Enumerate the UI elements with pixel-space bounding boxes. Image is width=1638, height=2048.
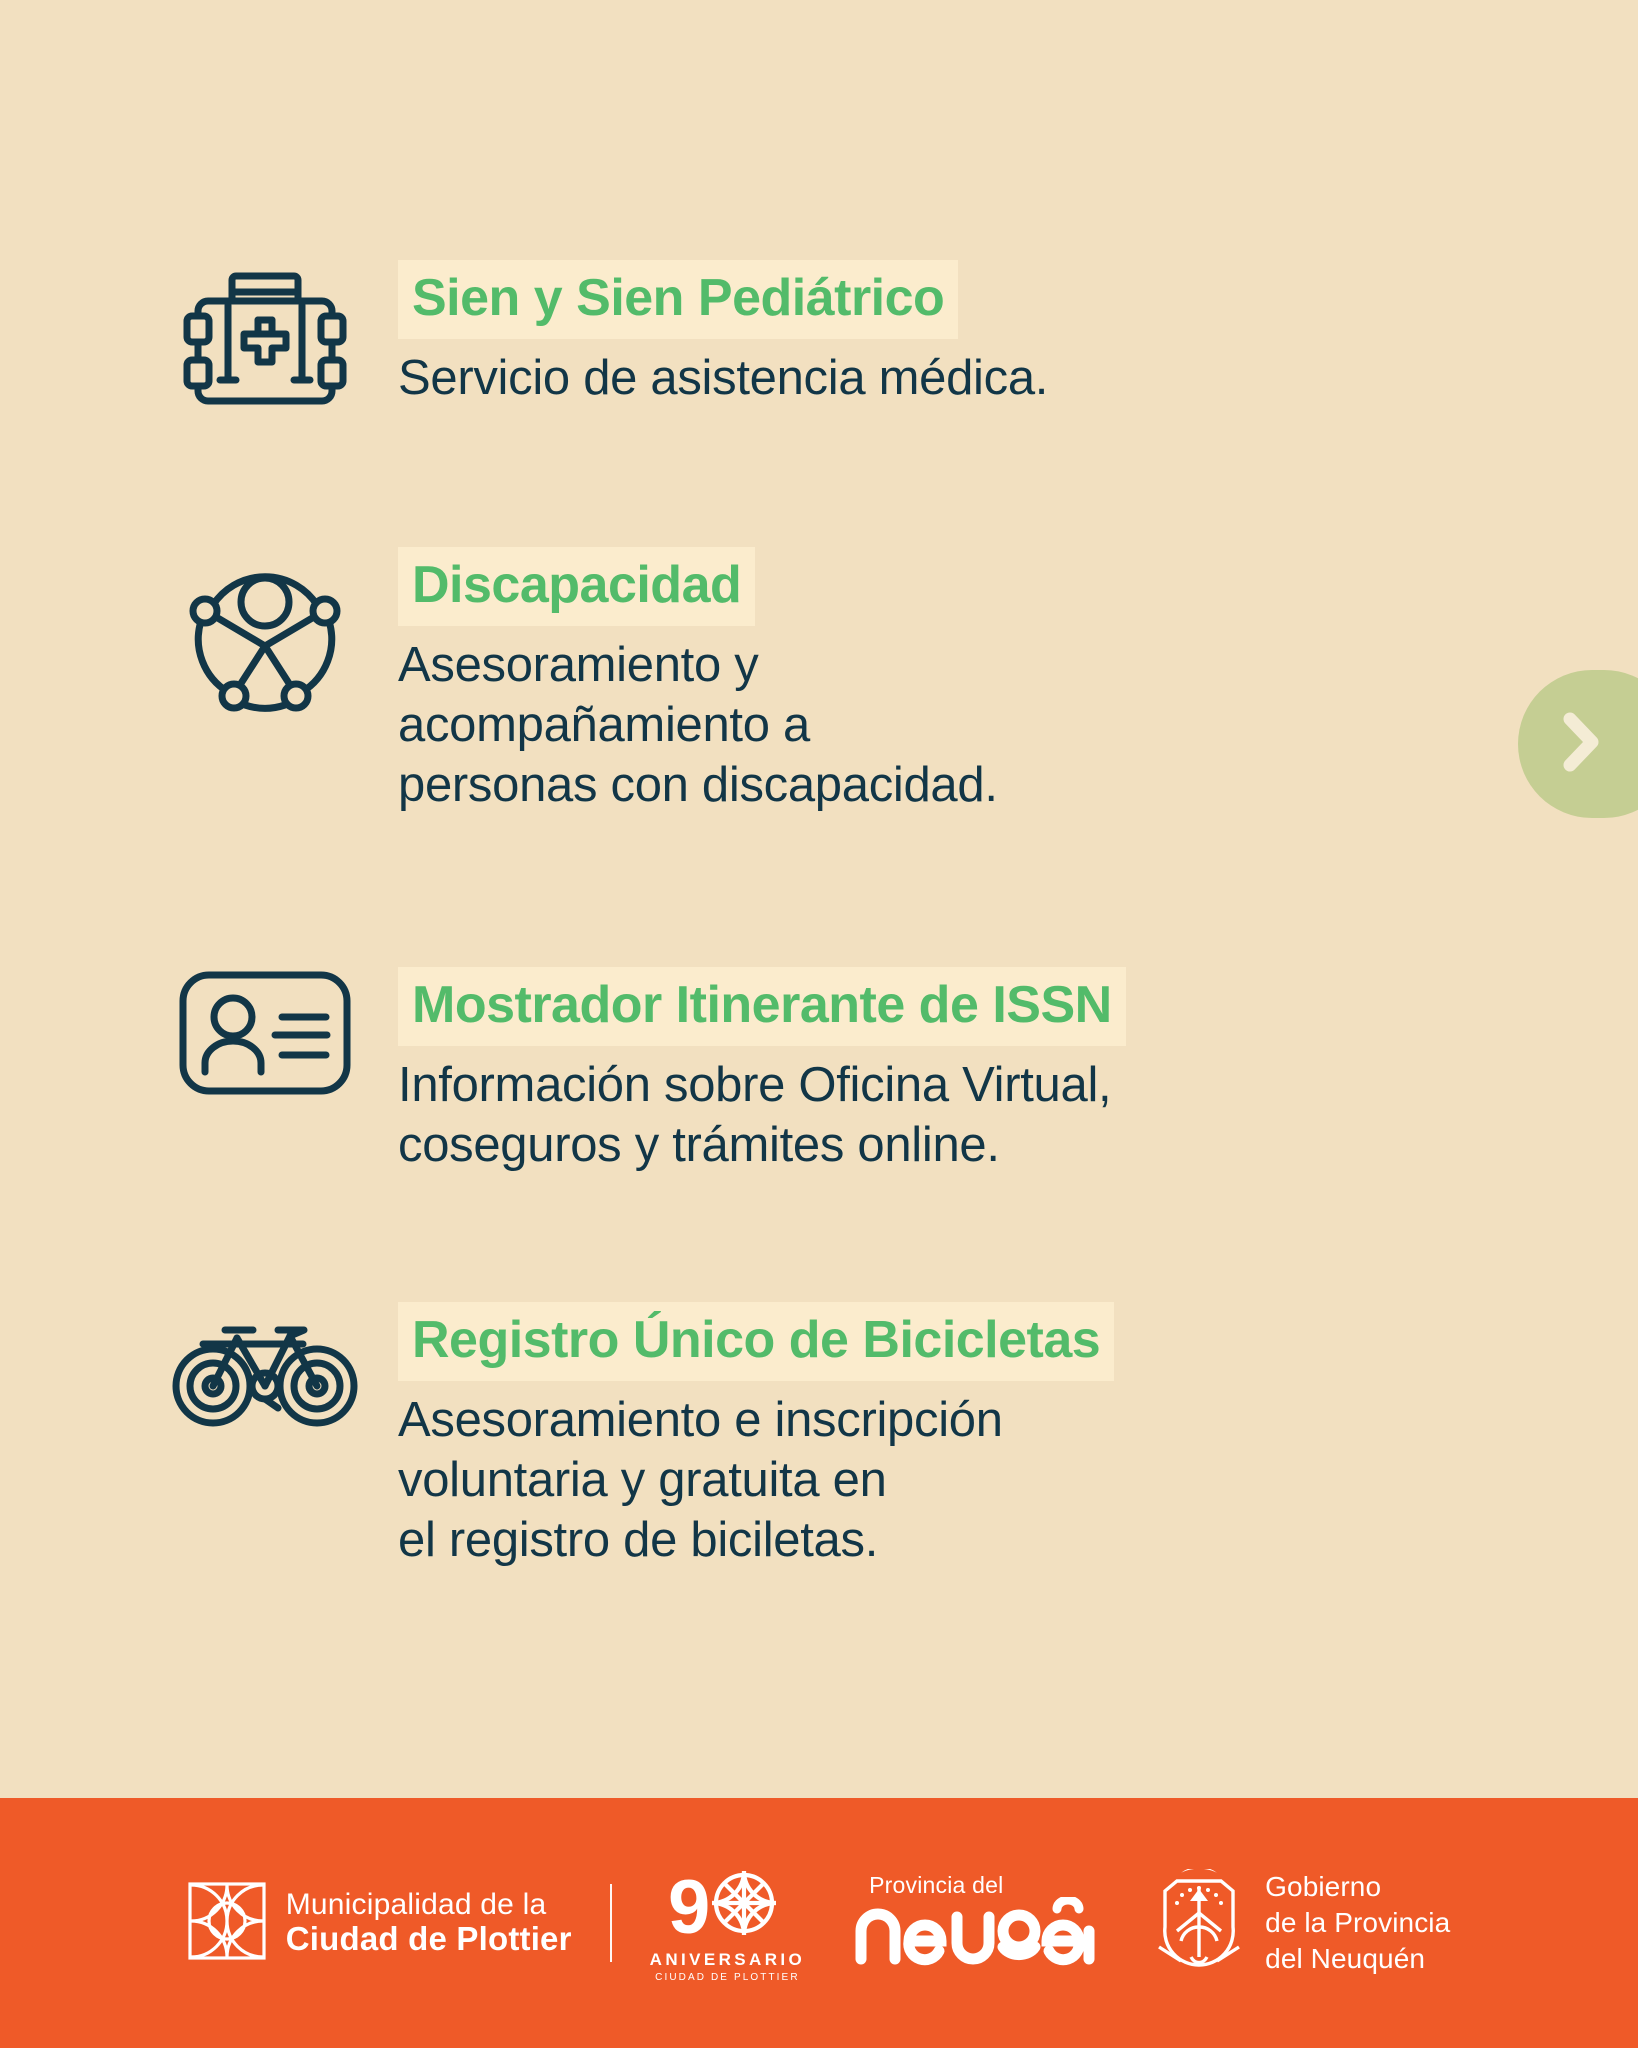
service-title: Sien y Sien Pediátrico	[398, 260, 958, 339]
province-logo-lockup: Provincia del	[851, 1872, 1099, 1974]
service-item-registro-unico-bicicletas: Registro Único de Bicicletas Asesoramien…	[150, 1300, 1450, 1571]
service-text-block: Registro Único de Bicicletas Asesoramien…	[380, 1300, 1450, 1571]
service-description: Asesoramiento e inscripción voluntaria y…	[398, 1391, 1450, 1570]
anniversary-line2: CIUDAD DE PLOTTIER	[650, 1972, 805, 1983]
id-card-icon	[150, 965, 380, 1100]
government-text: Gobierno de la Provincia del Neuquén	[1265, 1869, 1450, 1976]
services-list: Sien y Sien Pediátrico Servicio de asist…	[0, 0, 1638, 1798]
chevron-right-icon	[1558, 709, 1604, 780]
province-top-text: Provincia del	[869, 1872, 1003, 1899]
service-item-sien-y-sien-pediatrico: Sien y Sien Pediátrico Servicio de asist…	[150, 258, 1410, 423]
municipality-line2: Ciudad de Plottier	[286, 1921, 572, 1957]
anniversary-line1: ANIVERSARIO	[650, 1950, 805, 1970]
neuquen-coat-of-arms-icon	[1151, 1869, 1247, 1978]
service-title: Mostrador Itinerante de ISSN	[398, 967, 1126, 1046]
poster-page: Sien y Sien Pediátrico Servicio de asist…	[0, 0, 1638, 2048]
accessibility-person-icon	[150, 545, 380, 725]
municipality-line1: Municipalidad de la	[286, 1888, 572, 1921]
bicycle-icon	[150, 1300, 380, 1430]
footer-logos: Municipalidad de la Ciudad de Plottier 9	[188, 1863, 1451, 1983]
service-description: Asesoramiento y acompañamiento a persona…	[398, 636, 1410, 815]
municipality-logo-lockup: Municipalidad de la Ciudad de Plottier	[188, 1882, 572, 1965]
service-title: Registro Único de Bicicletas	[398, 1302, 1114, 1381]
service-description: Información sobre Oficina Virtual, coseg…	[398, 1056, 1450, 1176]
anniversary-logo-lockup: 9 ANIVERSARIO CIUDAD DE PLOTTIER	[650, 1863, 805, 1983]
footer-divider	[610, 1884, 612, 1962]
carousel-next-button[interactable]	[1518, 670, 1638, 818]
service-text-block: Mostrador Itinerante de ISSN Información…	[380, 965, 1450, 1176]
service-description: Servicio de asistencia médica.	[398, 349, 1410, 409]
service-title: Discapacidad	[398, 547, 755, 626]
90-aniversario-logo-icon: 9	[666, 1863, 788, 1948]
service-item-mostrador-itinerante-issn: Mostrador Itinerante de ISSN Información…	[150, 965, 1450, 1176]
svg-text:9: 9	[668, 1865, 710, 1943]
municipality-text: Municipalidad de la Ciudad de Plottier	[286, 1888, 572, 1957]
footer-logo-bar: Municipalidad de la Ciudad de Plottier 9	[0, 1798, 1638, 2048]
government-logo-lockup: Gobierno de la Provincia del Neuquén	[1151, 1869, 1450, 1978]
plottier-flower-logo-icon	[188, 1882, 266, 1965]
first-aid-kit-icon	[150, 258, 380, 423]
service-text-block: Discapacidad Asesoramiento y acompañamie…	[380, 545, 1410, 816]
anniversary-label: ANIVERSARIO CIUDAD DE PLOTTIER	[650, 1950, 805, 1983]
service-item-discapacidad: Discapacidad Asesoramiento y acompañamie…	[150, 545, 1410, 816]
service-text-block: Sien y Sien Pediátrico Servicio de asist…	[380, 258, 1410, 409]
neuquen-wordmark-icon	[851, 1897, 1099, 1974]
